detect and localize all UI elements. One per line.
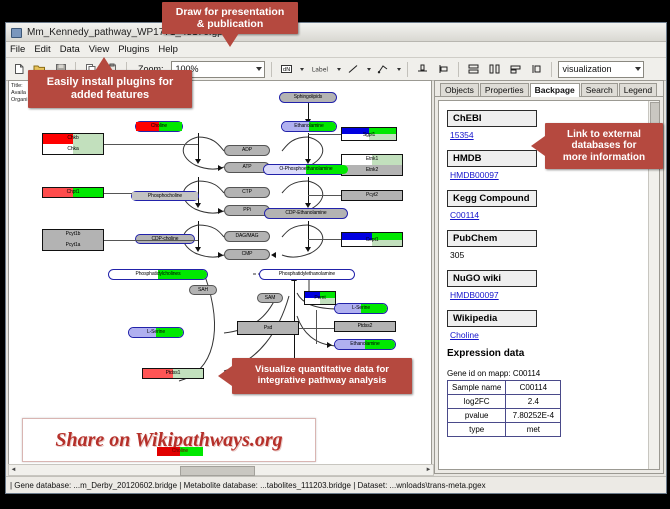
table-cell-value: C00114 [506,381,561,395]
callout-visualize: Visualize quantitative data for integrat… [232,358,412,394]
gene-node-ptdss2[interactable]: Ptdss2 [334,321,396,332]
app-icon [10,26,22,38]
gene-node-psd[interactable]: Psd [237,321,299,335]
svg-text:Label: Label [311,67,328,74]
toolbar-separator [551,62,552,77]
align-left-icon[interactable] [435,61,452,78]
metabolite-node-pe[interactable]: Phosphatidylethanolamine [259,269,355,280]
edge [316,310,317,344]
node-label: ATP [242,165,251,170]
node-label: CTP [242,190,252,195]
db-link-nugo[interactable]: HMDB00097 [450,290,651,300]
gene-node-sgpl1[interactable]: Sgpl1 [341,127,397,141]
node-label: Choline [151,124,167,129]
node-label: ADP [242,148,252,153]
cofactor-node-adp[interactable]: ADP [224,145,270,156]
db-value-pubchem: 305 [450,250,651,260]
align-top-icon[interactable] [414,61,431,78]
same-height-icon[interactable] [528,61,545,78]
node-label: Phosphatidylethanolamine [279,272,335,277]
arrow-icon [218,252,223,258]
arrow-icon [327,342,332,348]
table-cell-value: 2.4 [506,395,561,409]
gene-node-ptdss1[interactable]: Ptdss1 [142,368,204,379]
gene-node-chkb-chka[interactable]: Chkb Chka [42,133,104,155]
metabolite-node-ope[interactable]: O-Phosphoethanolamine [263,164,349,175]
table-cell-key: log2FC [448,395,506,409]
chevron-down-icon[interactable] [300,68,304,71]
tab-legend[interactable]: Legend [619,83,657,96]
node-label: Cept1 [342,238,402,243]
toolbar-separator [407,62,408,77]
node-label: Chka [43,147,103,152]
edge [308,133,309,161]
node-label: CDP-choline [152,237,179,242]
gene-node-pemt[interactable]: Pemt [304,291,336,305]
node-label: Psd [264,326,272,331]
db-link-wikipedia[interactable]: Choline [450,330,651,340]
node-label: L-Serine [352,306,370,311]
node-label: Sgpl1 [342,133,396,138]
node-label: L-Serine [147,330,165,335]
table-row: Sample name C00114 [448,381,561,395]
gene-node-chpt1[interactable]: Chpt1 [42,187,104,198]
node-label: Etnk1 [342,157,402,162]
scroll-right-icon[interactable]: ► [424,466,433,474]
arrow-icon [218,208,223,214]
callout-pointer-icon [95,57,113,71]
metabolite-node[interactable]: Phosphocholine [131,191,199,201]
interaction-icon[interactable] [375,61,392,78]
menu-item-data[interactable]: Data [60,44,80,55]
callout-pointer-icon [218,366,232,386]
node-label: Sphingolipids [294,95,322,100]
svg-text:dN: dN [282,67,290,73]
node-label: Pcyt2 [366,193,378,198]
cofactor-node-dagmag[interactable]: DAG/MAG [224,231,270,242]
table-row: pvalue 7.80252E-4 [448,409,561,423]
node-label: Ethanolamine [294,124,323,129]
callout-plugins: Easily install plugins for added feature… [28,70,192,108]
node-label: Ethanolamine [350,342,379,347]
datanode-icon[interactable]: dN [278,61,295,78]
chevron-down-icon[interactable] [397,68,401,71]
edge [104,144,198,145]
menu-item-plugins[interactable]: Plugins [118,44,149,55]
toolbar-separator [458,62,459,77]
new-file-icon[interactable] [10,61,27,78]
table-row: type met [448,423,561,437]
menu-item-view[interactable]: View [89,44,109,55]
metabolite-node[interactable]: CDP-choline [135,234,195,244]
db-header-kegg: Kegg Compound [447,190,537,207]
title-bar: Mm_Kennedy_pathway_WP1771_45176.gpml [6,23,666,42]
metabolite-node-cdp-etn[interactable]: CDP-Ethanolamine [264,208,348,219]
node-label: Ptdss1 [166,371,181,376]
gene-node-etnk1-etnk2[interactable]: Etnk1 Etnk2 [341,154,403,176]
label-icon[interactable]: Label [308,61,332,78]
node-label: SAM [265,296,276,301]
chevron-down-icon[interactable] [337,68,341,71]
node-label: Pcyt1a [43,243,103,248]
db-header-wikipedia: Wikipedia [447,310,537,327]
node-label: Etnk2 [342,168,402,173]
node-label: CMP [242,252,253,257]
edge [308,177,309,205]
node-label: Choline [172,449,188,454]
tab-backpage[interactable]: Backpage [530,83,580,97]
metabolite-node-sphingolipids[interactable]: Sphingolipids [279,92,337,103]
callout-pointer-icon [531,136,545,156]
visualization-value: visualization [563,64,612,74]
expression-table: Sample name C00114 log2FC 2.4 pvalue 7.8… [447,380,561,437]
scrollbar-track[interactable] [18,466,424,474]
cofactor-node-ctp[interactable]: CTP [224,187,270,198]
chevron-down-icon [635,67,641,71]
table-cell-key: pvalue [448,409,506,423]
chevron-down-icon [256,67,262,71]
table-cell-key: Sample name [448,381,506,395]
distribute-horizontal-icon[interactable] [486,61,503,78]
node-label: Phosphocholine [148,194,182,199]
db-header-hmdb: HMDB [447,150,537,167]
line-icon[interactable] [345,61,362,78]
metabolite-node-choline[interactable]: Choline [135,121,183,132]
arrow-icon [271,252,276,258]
status-bar: | Gene database: ...m_Derby_20120602.bri… [6,476,666,493]
node-label: Pemt [305,296,335,301]
menu-bar: File Edit Data View Plugins Help [6,42,666,58]
db-header-chebi: ChEBI [447,110,537,127]
pathway-canvas[interactable]: Title: Availa Organi [8,80,432,474]
node-label: Chpt1 [67,190,80,195]
menu-item-edit[interactable]: Edit [34,44,50,55]
same-width-icon[interactable] [507,61,524,78]
gene-node-pcyt1b-pcyt1a[interactable]: Pcyt1b Pcyt1a [42,229,104,251]
node-label: Phosphatidylcholines [136,272,181,277]
table-cell-key: type [448,423,506,437]
node-label: SAH [198,288,208,293]
node-label: Ptdss2 [358,324,373,329]
gene-node-cept1[interactable]: Cept1 [341,232,403,247]
node-label: Pcyt1b [43,232,103,237]
callout-pointer-icon [221,33,239,47]
menu-item-file[interactable]: File [10,44,25,55]
expression-data-heading: Expression data [447,348,651,359]
chevron-down-icon[interactable] [367,68,371,71]
node-label: CDP-Ethanolamine [285,211,326,216]
gene-node-pcyt2[interactable]: Pcyt2 [341,190,403,201]
cofactor-node-sam[interactable]: SAM [257,293,283,303]
node-label: O-Phosphoethanolamine [279,167,332,172]
db-link-hmdb[interactable]: HMDB00097 [450,170,651,180]
tab-search[interactable]: Search [581,83,618,96]
node-label: Chkb [43,136,103,141]
db-header-pubchem: PubChem [447,230,537,247]
toolbar-separator [271,62,272,77]
table-row: log2FC 2.4 [448,395,561,409]
side-panel-tabs: Objects Properties Backpage Search Legen… [435,81,663,97]
tab-properties[interactable]: Properties [480,83,529,96]
metabolite-node-ethanolamine[interactable]: Ethanolamine [281,121,337,132]
tab-objects[interactable]: Objects [440,83,479,96]
metabolite-node-ethanolamine-bottom[interactable]: Ethanolamine [334,339,396,350]
db-header-nugo: NuGO wiki [447,270,537,287]
table-cell-value: 7.80252E-4 [506,409,561,423]
visualization-combobox[interactable]: visualization [558,61,644,78]
cofactor-node-sah[interactable]: SAH [189,285,217,295]
screenshot-root: Mm_Kennedy_pathway_WP1771_45176.gpml Fil… [0,0,670,509]
arrow-icon [218,165,223,171]
db-link-kegg[interactable]: C00114 [450,210,651,220]
edge [308,195,341,196]
scrollbar-thumb[interactable] [180,466,255,476]
node-label: PPi [243,208,250,213]
metabolite-node-lserine[interactable]: L-Serine [128,327,184,338]
edge [308,239,341,240]
canvas-hscrollbar[interactable]: ◄ ► [8,464,434,476]
status-text: | Gene database: ...m_Derby_20120602.bri… [10,481,486,490]
callout-link: Link to external databases for more info… [545,123,663,169]
edge [308,134,341,135]
table-cell-value: met [506,423,561,437]
scroll-left-icon[interactable]: ◄ [9,466,18,474]
metabolite-node-choline-selected[interactable]: Choline [156,446,204,457]
menu-item-help[interactable]: Help [158,44,178,55]
gene-id-line: Gene id on mapp: C00114 [447,369,651,378]
metabolite-node-lserine-right[interactable]: L-Serine [334,303,388,314]
callout-draw: Draw for presentation & publication [162,2,298,34]
cofactor-node-cmp[interactable]: CMP [224,249,270,260]
arrow-icon [305,247,311,252]
edge [308,221,309,249]
metabolite-node-pc[interactable]: Phosphatidylcholines [108,269,208,280]
distribute-vertical-icon[interactable] [465,61,482,78]
node-label: DAG/MAG [236,234,259,239]
